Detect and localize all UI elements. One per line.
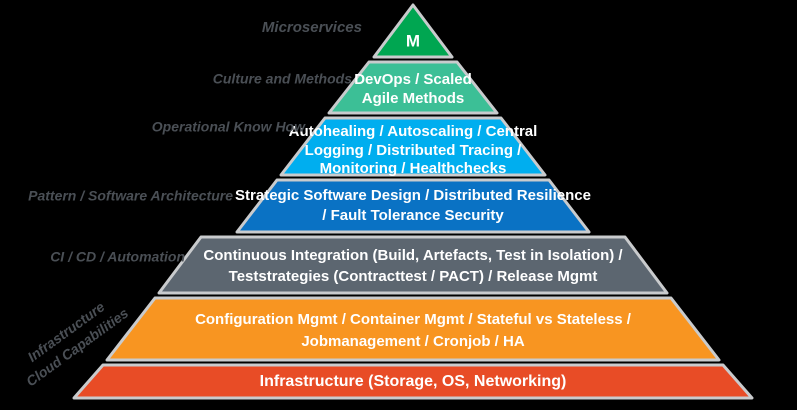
side-label-culture-and-methods: Culture and Methods: [213, 71, 352, 87]
pyramid-svg: M Microservices DevOps / Scaled Agile Me…: [0, 0, 797, 410]
level-body-operational-know-how-line-3: Monitoring / Healthchecks: [320, 160, 507, 177]
pyramid-diagram: M Microservices DevOps / Scaled Agile Me…: [0, 0, 797, 410]
level-body-culture-and-methods-line-2: Agile Methods: [362, 90, 465, 107]
side-label-microservices: Microservices: [262, 19, 362, 36]
pyramid-level-infrastructure-cloud-capabilities[interactable]: Configuration Mgmt / Container Mgmt / St…: [107, 298, 719, 360]
level-body-infrastructure-cloud-capabilities-line-2: Jobmanagement / Cronjob / HA: [301, 333, 525, 350]
level-body-culture-and-methods-line-1: DevOps / Scaled: [354, 71, 472, 88]
level-body-operational-know-how-line-1: Autohealing / Autoscaling / Central: [289, 123, 538, 140]
pyramid-level-pattern-software-architecture[interactable]: Strategic Software Design / Distributed …: [235, 180, 591, 232]
pyramid-level-operational-know-how[interactable]: Autohealing / Autoscaling / Central Logg…: [281, 118, 545, 177]
level-body-operational-know-how-line-2: Logging / Distributed Tracing /: [305, 142, 522, 159]
pyramid-level-ci-cd-automation[interactable]: Continuous Integration (Build, Artefacts…: [159, 237, 667, 293]
pyramid-level-culture-and-methods[interactable]: DevOps / Scaled Agile Methods: [329, 62, 497, 113]
level-body-ci-cd-automation-line-2: Teststrategies (Contracttest / PACT) / R…: [229, 268, 598, 285]
level-shape-infrastructure-cloud-capabilities: [107, 298, 719, 360]
level-body-infrastructure-cloud-capabilities-line-1: Configuration Mgmt / Container Mgmt / St…: [195, 311, 632, 328]
side-label-operational-know-how: Operational Know How: [152, 119, 306, 135]
side-label-ci-cd-automation: CI / CD / Automation: [50, 249, 185, 265]
pyramid-level-microservices[interactable]: M: [374, 5, 452, 57]
level-body-microservices: M: [406, 31, 420, 50]
level-body-ci-cd-automation-line-1: Continuous Integration (Build, Artefacts…: [203, 247, 623, 264]
level-body-infrastructure: Infrastructure (Storage, OS, Networking): [260, 373, 567, 390]
level-body-pattern-software-architecture-line-2: / Fault Tolerance Security: [322, 207, 504, 224]
level-body-pattern-software-architecture-line-1: Strategic Software Design / Distributed …: [235, 187, 591, 204]
side-label-pattern-software-architecture: Pattern / Software Architecture: [28, 188, 233, 204]
pyramid-level-infrastructure[interactable]: Infrastructure (Storage, OS, Networking): [74, 365, 752, 398]
